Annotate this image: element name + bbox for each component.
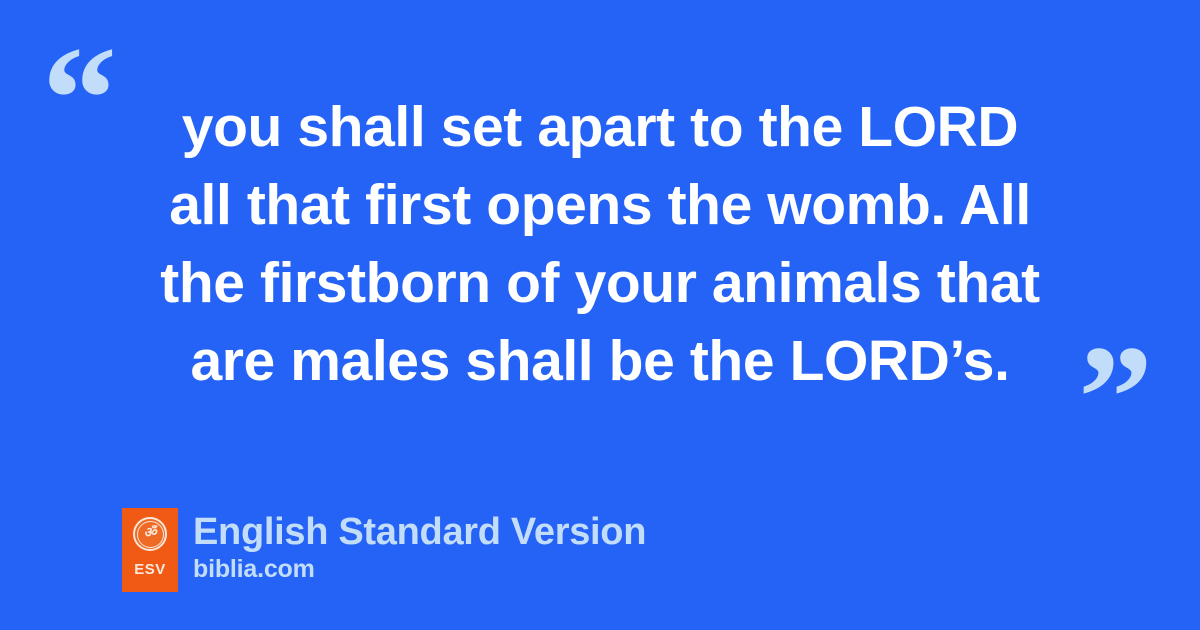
esv-seal-glyph: ॐ bbox=[144, 527, 157, 541]
esv-abbreviation-label: ESV bbox=[134, 562, 166, 577]
attribution: ॐ ESV English Standard Version biblia.co… bbox=[122, 508, 646, 592]
attribution-text: English Standard Version biblia.com bbox=[193, 508, 646, 584]
verse-card: “ you shall set apart to the LORD all th… bbox=[0, 0, 1200, 630]
quote-text-block: you shall set apart to the LORD all that… bbox=[80, 88, 1120, 400]
esv-logo: ॐ ESV bbox=[122, 508, 178, 592]
close-quote-mark-icon: ” bbox=[1078, 323, 1153, 473]
quote-line-4: are males shall be the LORD’s. bbox=[80, 322, 1120, 400]
site-url-label[interactable]: biblia.com bbox=[193, 554, 646, 584]
esv-seal-icon: ॐ bbox=[133, 517, 167, 551]
quote-line-3: the firstborn of your animals that bbox=[80, 244, 1120, 322]
bible-version-name: English Standard Version bbox=[193, 510, 646, 554]
quote-line-2: all that first opens the womb. All bbox=[80, 166, 1120, 244]
quote-line-1: you shall set apart to the LORD bbox=[80, 88, 1120, 166]
